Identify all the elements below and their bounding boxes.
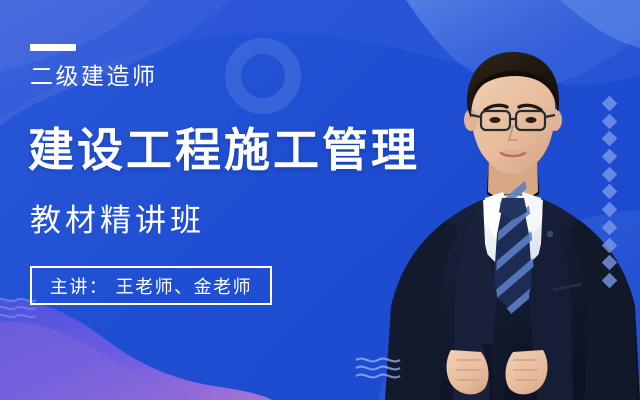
sub-title: 教材精讲班 [30, 203, 205, 240]
course-banner: 二级建造师 建设工程施工管理 教材精讲班 主讲： 王老师、金老师 [0, 0, 640, 400]
instructor-portrait-image [385, 44, 640, 400]
portrait-eye-right [526, 117, 537, 123]
portrait-ear-right [548, 109, 562, 131]
headline-group: 二级建造师 [30, 44, 450, 92]
lecturer-box: 主讲： 王老师、金老师 [30, 266, 272, 305]
portrait-eye-left [490, 117, 501, 123]
lecturer-text: 主讲： 王老师、金老师 [50, 273, 252, 299]
instructor-portrait [385, 44, 640, 400]
eyebrow-text: 二级建造师 [30, 63, 450, 92]
main-title: 建设工程施工管理 [28, 124, 420, 177]
accent-dash-icon [30, 44, 76, 51]
portrait-lapel-pin [547, 231, 553, 237]
